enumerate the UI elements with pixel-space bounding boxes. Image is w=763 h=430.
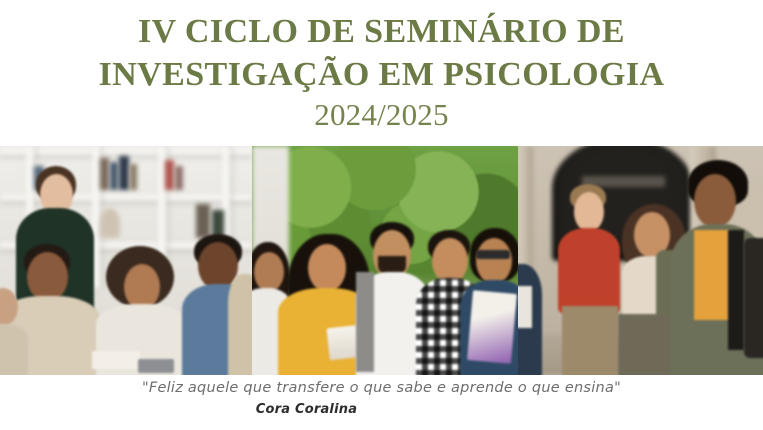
trousers: [562, 306, 618, 375]
torso: [558, 228, 620, 314]
title-line-1: IV CICLO DE SEMINÁRIO DE: [0, 10, 763, 53]
notebook: [518, 286, 532, 328]
book: [110, 162, 118, 190]
book: [196, 204, 210, 238]
title-subtitle-years: 2024/2025: [0, 96, 763, 134]
backpack: [744, 238, 763, 358]
shelf-rail: [0, 148, 252, 155]
vase: [100, 208, 120, 238]
inner-shirt: [694, 230, 730, 320]
brochure: [467, 290, 517, 364]
book: [165, 160, 174, 190]
head: [476, 238, 512, 284]
phone: [138, 359, 174, 373]
book: [100, 158, 109, 190]
library-scene: [0, 146, 252, 375]
head: [694, 174, 736, 228]
torso: [0, 324, 28, 375]
book: [175, 166, 183, 190]
quote-author: Cora Coralina: [0, 401, 763, 419]
bag-strap: [356, 272, 374, 372]
outdoor-scene: [252, 146, 518, 375]
head: [574, 192, 604, 232]
shoulder: [228, 274, 252, 375]
head: [308, 244, 346, 292]
title-block: IV CICLO DE SEMINÁRIO DE INVESTIGAÇÃO EM…: [0, 10, 763, 134]
photo-students-outdoors: [252, 146, 518, 375]
title-line-2: INVESTIGAÇÃO EM PSICOLOGIA: [0, 53, 763, 96]
photo-students-library: [0, 146, 252, 375]
book: [119, 156, 129, 190]
head: [27, 252, 68, 302]
book: [130, 164, 137, 190]
open-book: [92, 351, 140, 369]
quote-block: "Feliz aquele que transfere o que sabe e…: [0, 378, 763, 419]
presentation-slide: IV CICLO DE SEMINÁRIO DE INVESTIGAÇÃO EM…: [0, 0, 763, 430]
photo-students-campus: [518, 146, 763, 375]
backpack-strap: [728, 230, 744, 350]
photo-band: [0, 146, 763, 375]
quote-text: "Feliz aquele que transfere o que sabe e…: [0, 378, 763, 398]
head: [254, 252, 284, 292]
campus-scene: [518, 146, 763, 375]
glasses-icon: [476, 250, 510, 259]
